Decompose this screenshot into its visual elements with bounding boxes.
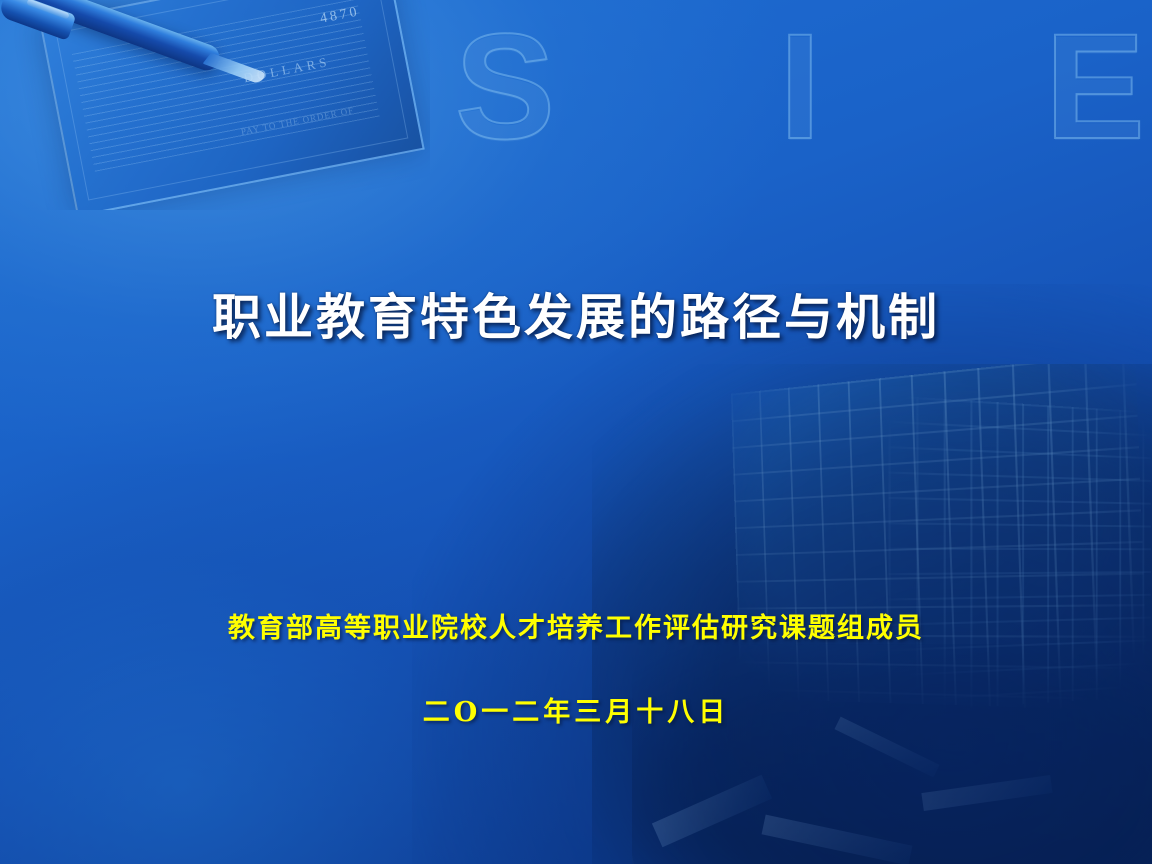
slide-date: 二O一二年三月十八日 <box>0 690 1152 729</box>
watermark-letter-s: S <box>455 11 555 161</box>
slide-title: 职业教育特色发展的路径与机制 <box>0 278 1152 349</box>
background-glow-bottom-left <box>0 464 560 864</box>
watermark-letter-i: I <box>779 11 821 161</box>
slide-subtitle: 教育部高等职业院校人才培养工作评估研究课题组成员 <box>0 606 1152 645</box>
watermark-letters: S I E <box>455 6 1145 166</box>
presentation-slide: 4870 DOLLARS PAY TO THE ORDER OF S I E 职… <box>0 0 1152 864</box>
pen-and-cheque-photo: 4870 DOLLARS PAY TO THE ORDER OF <box>0 0 430 210</box>
watermark-letter-e: E <box>1045 11 1145 161</box>
